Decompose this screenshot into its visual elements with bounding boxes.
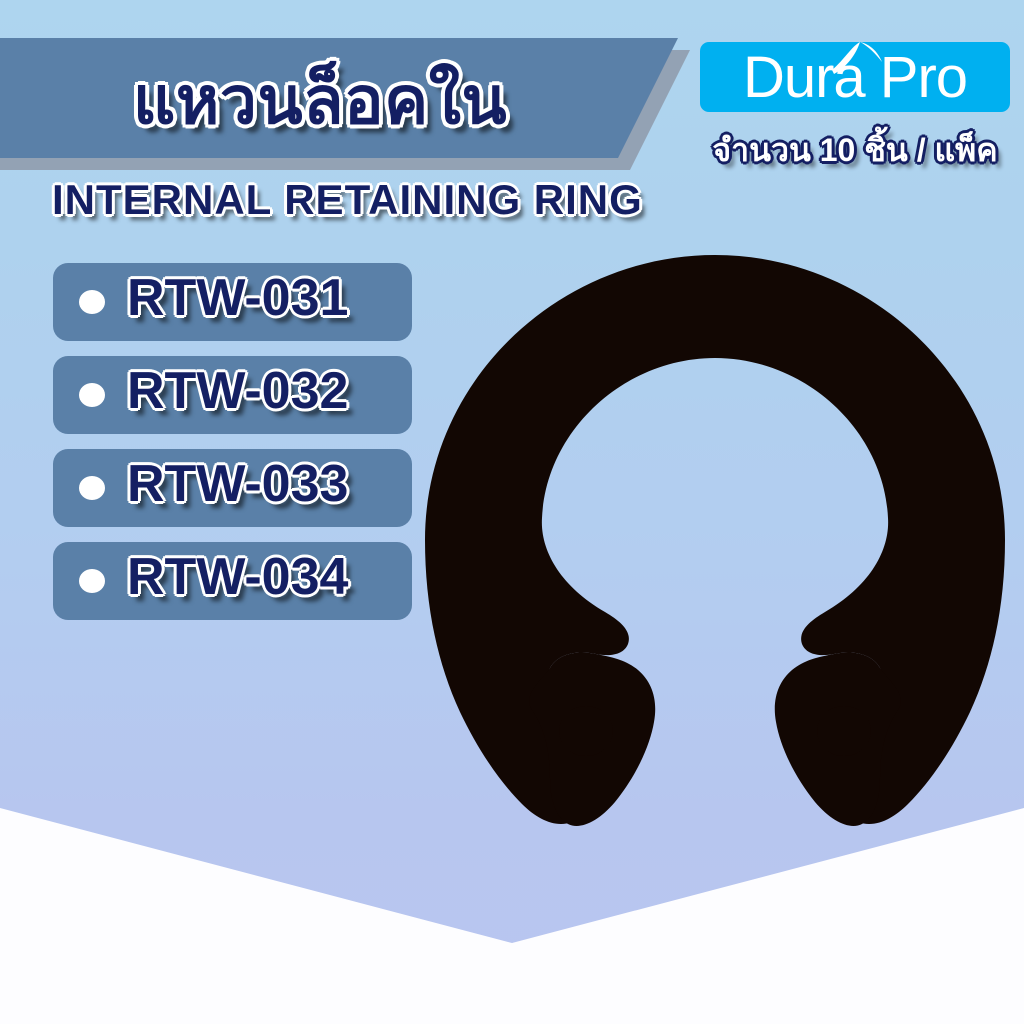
brand-logo-box: Dura Pro — [700, 42, 1010, 112]
part-number-label: RTW-033 — [127, 454, 348, 514]
part-number-label: RTW-034 — [127, 547, 348, 607]
part-number-label: RTW-031 — [127, 268, 348, 328]
bullet-dot-icon — [79, 569, 105, 593]
product-banner-image: แหวนล็อคใน INTERNAL RETAINING RING Dura … — [0, 0, 1024, 1024]
pack-quantity-note: จำนวน 10 ชิ้น / แพ็ค — [690, 126, 1020, 174]
brand-name: Dura Pro — [700, 42, 1010, 112]
part-number-badge[interactable]: RTW-031 — [53, 263, 412, 341]
part-number-badge[interactable]: RTW-033 — [53, 449, 412, 527]
bullet-dot-icon — [79, 383, 105, 407]
part-number-badge[interactable]: RTW-032 — [53, 356, 412, 434]
internal-retaining-ring-photo — [400, 230, 1024, 850]
page-title-english: INTERNAL RETAINING RING — [52, 176, 643, 224]
bullet-dot-icon — [79, 476, 105, 500]
bullet-dot-icon — [79, 290, 105, 314]
part-number-label: RTW-032 — [127, 361, 348, 421]
page-title-thai: แหวนล็อคใน — [0, 52, 640, 148]
part-number-badge[interactable]: RTW-034 — [53, 542, 412, 620]
